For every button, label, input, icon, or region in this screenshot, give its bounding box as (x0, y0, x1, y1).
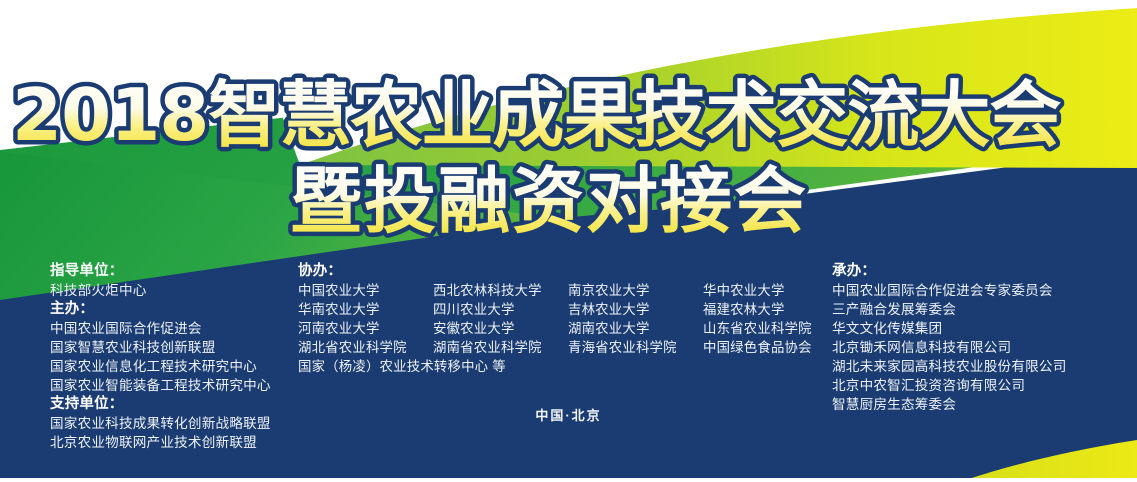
organizer-item: 国家农业信息化工程技术研究中心 (50, 357, 300, 376)
supporter-item: 北京农业物联网产业技术创新联盟 (50, 433, 300, 452)
conference-poster: 2018智慧农业成果技术交流大会 暨投融资对接会 指导单位： 科技部火炬中心 主… (0, 0, 1137, 482)
co-organizer-item: 青海省农业科学院 (568, 338, 703, 357)
co-organizer-item: 吉林农业大学 (568, 300, 703, 319)
co-organizer-item: 湖南省农业科学院 (433, 338, 568, 357)
credits-column-hosts: 承办： 中国农业国际合作促进会专家委员会 三产融合发展筹委会 华文文化传媒集团 … (832, 262, 1132, 414)
co-organizer-item: 湖北省农业科学院 (298, 338, 433, 357)
co-organizer-item: 安徽农业大学 (433, 319, 568, 338)
host-label: 承办： (832, 262, 1132, 281)
co-organizer-item: 四川农业大学 (433, 300, 568, 319)
host-item: 湖北未来家园高科技农业股份有限公司 (832, 357, 1132, 376)
organizer-item: 国家智慧农业科技创新联盟 (50, 338, 300, 357)
organizer-label: 主办： (50, 300, 300, 319)
host-item: 华文文化传媒集团 (832, 319, 1132, 338)
co-organizer-item: 湖南农业大学 (568, 319, 703, 338)
host-item: 中国农业国际合作促进会专家委员会 (832, 281, 1132, 300)
host-item: 北京中农智汇投资咨询有限公司 (832, 376, 1132, 395)
event-location: 中国·北京 (0, 405, 1137, 424)
co-organizer-item: 山东省农业科学院 (703, 319, 838, 338)
co-organizer-item: 西北农林科技大学 (433, 281, 568, 300)
co-organizer-label: 协办： (298, 262, 828, 281)
co-organizer-item: 华南农业大学 (298, 300, 433, 319)
co-organizer-item: 中国绿色食品协会 (703, 338, 838, 357)
organizer-item: 国家农业智能装备工程技术研究中心 (50, 376, 300, 395)
organizer-item: 中国农业国际合作促进会 (50, 319, 300, 338)
co-organizer-item: 华中农业大学 (703, 281, 838, 300)
host-item: 北京锄禾网信息科技有限公司 (832, 338, 1132, 357)
credits-column-co-organizers: 协办： 中国农业大学 西北农林科技大学 南京农业大学 华中农业大学 华南农业大学… (298, 262, 828, 376)
co-organizer-item: 福建农林大学 (703, 300, 838, 319)
co-organizer-item: 河南农业大学 (298, 319, 433, 338)
co-organizer-item: 中国农业大学 (298, 281, 433, 300)
host-item: 三产融合发展筹委会 (832, 300, 1132, 319)
co-organizer-item: 南京农业大学 (568, 281, 703, 300)
co-organizer-grid: 中国农业大学 西北农林科技大学 南京农业大学 华中农业大学 华南农业大学 四川农… (298, 281, 828, 376)
background-bottom-edge (0, 478, 1137, 482)
co-organizer-item-last: 国家（杨凌）农业技术转移中心 等 (298, 357, 568, 376)
guidance-item: 科技部火炬中心 (50, 281, 300, 300)
guidance-label: 指导单位： (50, 262, 300, 281)
